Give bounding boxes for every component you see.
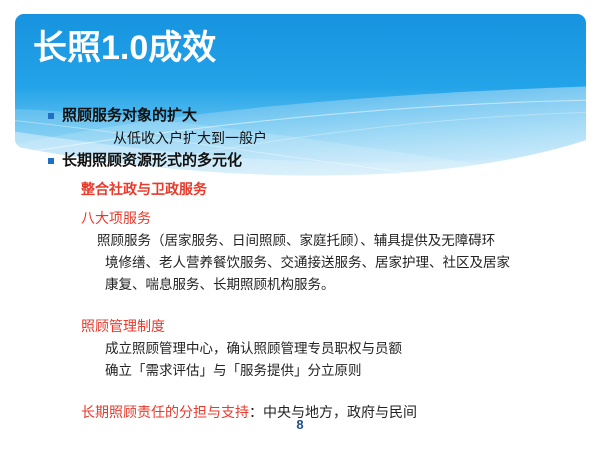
spacer: [0, 382, 600, 400]
red-item-eight-services: 八大项服务: [81, 206, 600, 230]
red-item-integration: 整合社政与卫政服务: [81, 177, 600, 201]
page-number: 8: [0, 417, 600, 432]
care-management-line-2: 确立「需求评估」与「服务提供」分立原则: [105, 360, 600, 382]
bullet-1-subtext: 从低收入户扩大到一般户: [113, 127, 600, 149]
care-management-line-1: 成立照顾管理中心，确认照顾管理专员职权与员额: [105, 338, 600, 360]
red-item-care-management: 照顾管理制度: [81, 314, 600, 338]
services-paragraph-line-1: 照顾服务（居家服务、日间照顾、家庭托顾）、辅具提供及无障碍环: [97, 230, 600, 252]
bullet-1-heading: 照顾服务对象的扩大: [62, 107, 197, 124]
spacer: [0, 296, 600, 314]
slide-body: 照顾服务对象的扩大 从低收入户扩大到一般户 长期照顾资源形式的多元化 整合社政与…: [0, 104, 600, 424]
bullet-2-heading: 长期照顾资源形式的多元化: [62, 152, 242, 169]
bullet-item-2: 长期照顾资源形式的多元化: [48, 149, 600, 172]
bullet-item-1: 照顾服务对象的扩大: [48, 104, 600, 127]
slide: 长照1.0成效 照顾服务对象的扩大 从低收入户扩大到一般户 长期照顾资源形式的多…: [0, 0, 600, 450]
slide-title: 长照1.0成效: [33, 28, 216, 68]
square-bullet-icon: [48, 158, 54, 164]
services-paragraph-line-3: 康复、喘息服务、长期照顾机构服务。: [105, 274, 600, 296]
square-bullet-icon: [48, 113, 54, 119]
services-paragraph-line-2: 境修缮、老人营养餐饮服务、交通接送服务、居家护理、社区及居家: [105, 252, 600, 274]
